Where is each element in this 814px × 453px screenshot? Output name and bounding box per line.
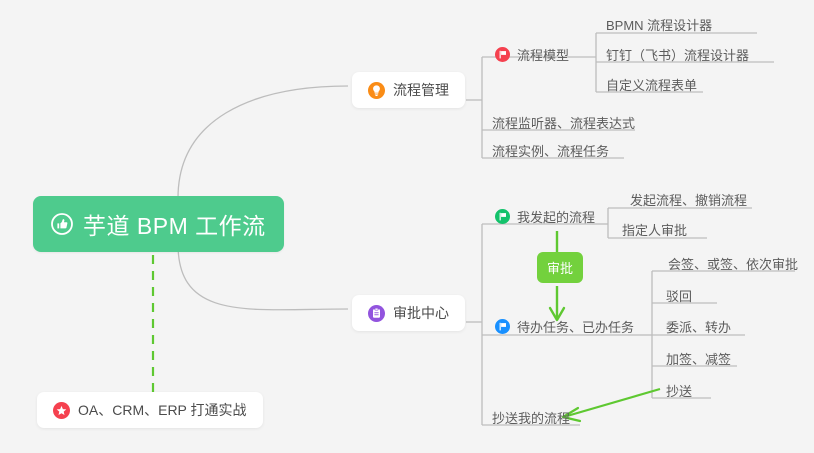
leaf-node-cc-to-me[interactable]: 抄送我的流程: [484, 404, 578, 432]
leaf-label: 驳回: [666, 286, 692, 305]
leaf-node-bpmn-designer[interactable]: BPMN 流程设计器: [598, 11, 720, 39]
leaf-node-countersign[interactable]: 会签、或签、依次审批: [660, 250, 806, 278]
leaf-label: 会签、或签、依次审批: [668, 254, 798, 273]
leaf-label: BPMN 流程设计器: [606, 15, 712, 34]
lightbulb-icon: [368, 82, 385, 99]
leaf-node-listener-expression[interactable]: 流程监听器、流程表达式: [484, 109, 643, 137]
leaf-label: 抄送: [666, 381, 692, 400]
flag-icon: [495, 47, 510, 62]
leaf-label: 流程监听器、流程表达式: [492, 113, 635, 132]
leaf-node-reject[interactable]: 驳回: [658, 282, 700, 310]
leaf-label: 委派、转办: [666, 317, 731, 336]
leaf-label: 流程实例、流程任务: [492, 141, 609, 160]
leaf-label: 待办任务、已办任务: [517, 317, 634, 336]
leaf-label: 钉钉（飞书）流程设计器: [606, 45, 749, 64]
leaf-label: 抄送我的流程: [492, 408, 570, 427]
bottom-note-node[interactable]: OA、CRM、ERP 打通实战: [37, 392, 263, 428]
leaf-label: 自定义流程表单: [606, 75, 697, 94]
flag-icon: [495, 209, 510, 224]
branch-label: 流程管理: [393, 80, 449, 100]
branch-label: 审批中心: [393, 303, 449, 323]
leaf-label: 指定人审批: [622, 220, 687, 239]
root-node[interactable]: 芋道 BPM 工作流: [33, 196, 284, 252]
leaf-node-instance-task[interactable]: 流程实例、流程任务: [484, 137, 617, 165]
leaf-node-cc[interactable]: 抄送: [658, 377, 700, 405]
leaf-label: 加签、减签: [666, 349, 731, 368]
branch-node-approval-center[interactable]: 审批中心: [352, 295, 465, 331]
bottom-note-label: OA、CRM、ERP 打通实战: [78, 400, 247, 420]
root-label: 芋道 BPM 工作流: [83, 207, 266, 241]
leaf-node-custom-form[interactable]: 自定义流程表单: [598, 71, 705, 99]
leaf-node-process-model[interactable]: 流程模型: [489, 41, 577, 69]
leaf-label: 我发起的流程: [517, 207, 595, 226]
leaf-node-delegate-transfer[interactable]: 委派、转办: [658, 313, 739, 341]
leaf-node-todo-done-tasks[interactable]: 待办任务、已办任务: [489, 313, 642, 341]
clipboard-icon: [368, 305, 385, 322]
leaf-node-dingtalk-designer[interactable]: 钉钉（飞书）流程设计器: [598, 41, 757, 69]
leaf-label: 流程模型: [517, 45, 569, 64]
mindmap-canvas: 芋道 BPM 工作流 流程管理 流程模型 BPMN 流程设计器 钉钉（飞书）流程: [0, 0, 814, 453]
star-icon: [53, 402, 70, 419]
branch-node-process-management[interactable]: 流程管理: [352, 72, 465, 108]
tag-node-approval[interactable]: 审批: [537, 252, 583, 283]
leaf-node-my-initiated-process[interactable]: 我发起的流程: [489, 203, 603, 231]
leaf-node-add-remove-sign[interactable]: 加签、减签: [658, 345, 739, 373]
leaf-node-start-cancel-process[interactable]: 发起流程、撤销流程: [622, 186, 755, 214]
tag-label: 审批: [547, 258, 573, 277]
thumbs-up-icon: [51, 213, 73, 235]
flag-icon: [495, 319, 510, 334]
leaf-label: 发起流程、撤销流程: [630, 190, 747, 209]
leaf-node-assignee-approval[interactable]: 指定人审批: [614, 216, 695, 244]
